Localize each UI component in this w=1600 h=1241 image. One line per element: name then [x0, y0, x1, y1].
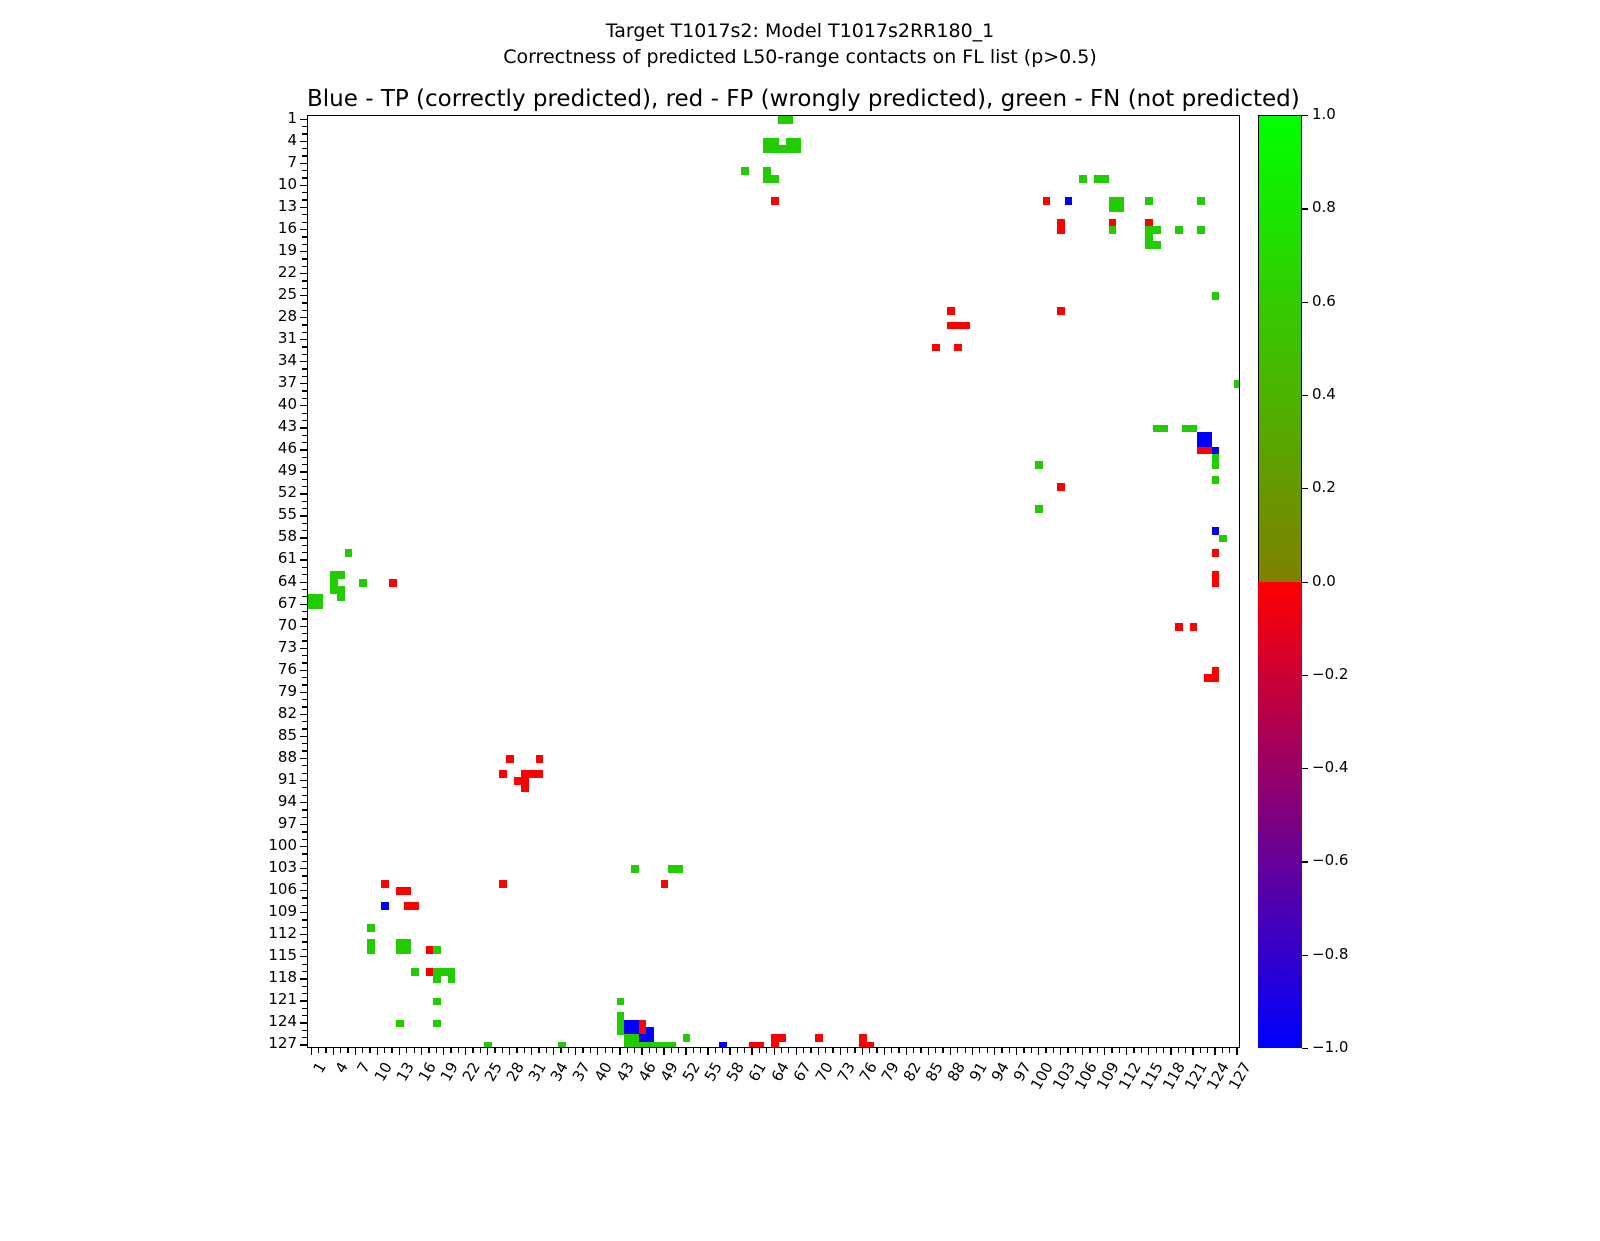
- y-axis-tick-minor: [302, 750, 307, 751]
- x-axis-tick-major: [906, 1048, 907, 1055]
- x-axis-tick-minor: [693, 1048, 694, 1053]
- y-axis-tick-minor: [302, 743, 307, 744]
- contact-cell: [1212, 579, 1220, 587]
- contact-cell: [345, 549, 353, 557]
- y-axis-tick-label: 28: [278, 309, 297, 324]
- y-axis-tick-label: 4: [287, 133, 297, 148]
- y-axis-tick-minor: [302, 413, 307, 414]
- y-axis-tick-minor: [302, 795, 307, 796]
- contact-cell: [771, 175, 779, 183]
- y-axis-tick-major: [300, 626, 307, 627]
- x-axis-tick-minor: [766, 1048, 767, 1053]
- x-axis-tick-major: [1082, 1048, 1083, 1055]
- contact-cell: [1145, 197, 1153, 205]
- y-axis-tick-minor: [302, 244, 307, 245]
- y-axis-tick-label: 70: [278, 618, 297, 633]
- y-axis-tick-major: [300, 648, 307, 649]
- y-axis-tick-minor: [302, 640, 307, 641]
- x-axis-tick-minor: [472, 1048, 473, 1053]
- contact-cell: [1116, 204, 1124, 212]
- x-axis-tick-major: [1038, 1048, 1039, 1055]
- contact-cell: [433, 946, 441, 954]
- contact-cell: [381, 880, 389, 888]
- x-axis-tick-major: [774, 1048, 775, 1055]
- x-axis-tick-minor: [1053, 1048, 1054, 1053]
- contact-cell: [1109, 226, 1117, 234]
- y-axis-tick-label: 61: [278, 551, 297, 566]
- x-axis-tick-minor: [722, 1048, 723, 1053]
- y-axis-tick-major: [300, 361, 307, 362]
- y-axis-tick-label: 46: [278, 441, 297, 456]
- colorbar-tick: [1302, 955, 1308, 956]
- x-axis-tick-minor: [1067, 1048, 1068, 1053]
- y-axis-tick-label: 112: [268, 926, 297, 941]
- x-axis-tick-minor: [913, 1048, 914, 1053]
- x-axis-tick-minor: [715, 1048, 716, 1053]
- y-axis-tick-minor: [302, 258, 307, 259]
- contact-cell: [411, 902, 419, 910]
- contact-cell: [1175, 623, 1183, 631]
- x-axis-tick-minor: [1023, 1048, 1024, 1053]
- colorbar-tick: [1302, 395, 1308, 396]
- colorbar-tick-label: 0.2: [1312, 480, 1336, 495]
- y-axis-tick-minor: [302, 949, 307, 950]
- x-axis-tick-minor: [920, 1048, 921, 1053]
- contact-cell: [359, 579, 367, 587]
- x-axis-tick-minor: [656, 1048, 657, 1053]
- y-axis-tick-minor: [302, 479, 307, 480]
- colorbar-tick-label: 0.4: [1312, 387, 1336, 402]
- x-axis-tick-major: [399, 1048, 400, 1055]
- y-axis-tick-major: [300, 1022, 307, 1023]
- x-axis-tick-major: [1236, 1048, 1237, 1055]
- contact-cell: [661, 880, 669, 888]
- x-axis-tick-major: [1104, 1048, 1105, 1055]
- x-axis-tick-minor: [1089, 1048, 1090, 1053]
- y-axis-tick-minor: [302, 618, 307, 619]
- contact-cell: [962, 322, 970, 330]
- contact-cell: [404, 887, 412, 895]
- x-axis-tick-minor: [538, 1048, 539, 1053]
- x-axis-tick-minor: [942, 1048, 943, 1053]
- contact-cell: [1212, 674, 1220, 682]
- x-axis-tick-major: [707, 1048, 708, 1055]
- x-axis-tick-minor: [605, 1048, 606, 1053]
- contact-cell: [315, 601, 323, 609]
- contact-cell: [675, 865, 683, 873]
- y-axis-tick-label: 16: [278, 221, 297, 236]
- contact-cell: [521, 785, 529, 793]
- x-axis-tick-major: [619, 1048, 620, 1055]
- y-axis-tick-minor: [302, 861, 307, 862]
- y-axis-tick-major: [300, 295, 307, 296]
- contact-cell: [367, 946, 375, 954]
- y-axis-tick-label: 124: [268, 1014, 297, 1029]
- x-axis-tick-major: [729, 1048, 730, 1055]
- contact-cell: [932, 344, 940, 352]
- contact-cell: [337, 571, 345, 579]
- x-axis-tick-minor: [891, 1048, 892, 1053]
- x-axis-tick-major: [1126, 1048, 1127, 1055]
- colorbar-tick: [1302, 675, 1308, 676]
- y-axis-tick-minor: [302, 552, 307, 553]
- y-axis-tick-minor: [302, 435, 307, 436]
- y-axis-tick-label: 10: [278, 177, 297, 192]
- x-axis-tick-minor: [436, 1048, 437, 1053]
- y-axis-tick-minor: [302, 523, 307, 524]
- y-axis-tick-major: [300, 956, 307, 957]
- y-axis-tick-minor: [302, 324, 307, 325]
- y-axis-tick-minor: [302, 787, 307, 788]
- y-axis-tick-label: 121: [268, 992, 297, 1007]
- x-axis-tick-minor: [744, 1048, 745, 1053]
- y-axis-tick-minor: [302, 155, 307, 156]
- x-axis-tick-minor: [1141, 1048, 1142, 1053]
- y-axis-tick-label: 13: [278, 199, 297, 214]
- y-axis-tick-major: [300, 163, 307, 164]
- contact-cell: [1212, 549, 1220, 557]
- y-axis-tick-minor: [302, 831, 307, 832]
- y-axis-tick-major: [300, 229, 307, 230]
- y-axis-tick-minor: [302, 192, 307, 193]
- y-axis-tick-minor: [302, 677, 307, 678]
- y-axis-tick-minor: [302, 971, 307, 972]
- y-axis-tick-major: [300, 317, 307, 318]
- y-axis-tick-label: 91: [278, 772, 297, 787]
- x-axis-tick-major: [862, 1048, 863, 1055]
- x-axis-tick-minor: [340, 1048, 341, 1053]
- y-axis-tick-major: [300, 582, 307, 583]
- x-axis-tick-major: [818, 1048, 819, 1055]
- x-axis-tick-major: [1016, 1048, 1017, 1055]
- contact-cell: [771, 197, 779, 205]
- x-axis-tick-major: [509, 1048, 510, 1055]
- contact-cell: [433, 998, 441, 1006]
- contact-cell: [499, 880, 507, 888]
- y-axis-tick-minor: [302, 611, 307, 612]
- y-axis-tick-major: [300, 780, 307, 781]
- figure-canvas: Target T1017s2: Model T1017s2RR180_1 Cor…: [0, 0, 1600, 1200]
- y-axis-tick-minor: [302, 596, 307, 597]
- x-axis-tick-minor: [450, 1048, 451, 1053]
- contact-cell: [411, 968, 419, 976]
- colorbar-tick-label: −0.4: [1312, 760, 1348, 775]
- y-axis-tick-label: 64: [278, 574, 297, 589]
- y-axis-tick-minor: [302, 222, 307, 223]
- x-axis-tick-minor: [494, 1048, 495, 1053]
- contact-cell: [1212, 476, 1220, 484]
- y-axis-tick-minor: [302, 765, 307, 766]
- x-axis-tick-minor: [560, 1048, 561, 1053]
- y-axis-tick-minor: [302, 1015, 307, 1016]
- y-axis-tick-minor: [302, 1037, 307, 1038]
- contact-cell: [1212, 461, 1220, 469]
- x-axis-tick-minor: [803, 1048, 804, 1053]
- y-axis-tick-label: 31: [278, 331, 297, 346]
- y-axis-tick-major: [300, 119, 307, 120]
- x-axis-tick-minor: [898, 1048, 899, 1053]
- x-axis-tick-minor: [524, 1048, 525, 1053]
- y-axis-tick-minor: [302, 567, 307, 568]
- contact-map-plot-area[interactable]: [307, 115, 1240, 1048]
- y-axis-tick-minor: [302, 875, 307, 876]
- y-axis-tick-minor: [302, 346, 307, 347]
- x-axis-tick-major: [641, 1048, 642, 1055]
- y-axis-tick-minor: [302, 442, 307, 443]
- y-axis-tick-major: [300, 515, 307, 516]
- colorbar-gradient-lower: [1258, 582, 1302, 1049]
- y-axis-tick-minor: [302, 501, 307, 502]
- x-axis-tick-minor: [1178, 1048, 1179, 1053]
- x-axis-tick-minor: [369, 1048, 370, 1053]
- contact-cell: [793, 145, 801, 153]
- axes-legend-caption: Blue - TP (correctly predicted), red - F…: [307, 86, 1240, 112]
- x-axis-tick-minor: [700, 1048, 701, 1053]
- contact-cell: [1212, 292, 1220, 300]
- y-axis-tick-minor: [302, 589, 307, 590]
- y-axis-tick-label: 34: [278, 353, 297, 368]
- x-axis-tick-major: [685, 1048, 686, 1055]
- x-axis-tick-minor: [1075, 1048, 1076, 1053]
- y-axis-tick-minor: [302, 839, 307, 840]
- y-axis-tick-major: [300, 141, 307, 142]
- contact-cell: [954, 344, 962, 352]
- contact-cell: [1035, 505, 1043, 513]
- x-axis-tick-minor: [737, 1048, 738, 1053]
- contact-cell-layer: [308, 116, 1239, 1047]
- x-axis-tick-minor: [965, 1048, 966, 1053]
- y-axis-tick-minor: [302, 883, 307, 884]
- x-axis-tick-minor: [362, 1048, 363, 1053]
- colorbar-tick-label: −0.6: [1312, 853, 1348, 868]
- colorbar-tick: [1302, 302, 1308, 303]
- x-axis-tick-minor: [1133, 1048, 1134, 1053]
- y-axis-tick-minor: [302, 508, 307, 509]
- contact-cell: [433, 1020, 441, 1028]
- contact-cell: [631, 865, 639, 873]
- y-axis-tick-minor: [302, 457, 307, 458]
- colorbar-tick: [1302, 488, 1308, 489]
- x-axis-tick-major: [333, 1048, 334, 1055]
- x-axis-tick-minor: [458, 1048, 459, 1053]
- x-axis-tick-minor: [612, 1048, 613, 1053]
- x-axis-tick-minor: [634, 1048, 635, 1053]
- x-axis-tick-minor: [671, 1048, 672, 1053]
- contact-cell: [1190, 623, 1198, 631]
- y-axis-tick-minor: [302, 897, 307, 898]
- x-axis-tick-minor: [810, 1048, 811, 1053]
- x-axis-tick-minor: [406, 1048, 407, 1053]
- x-axis-tick-minor: [649, 1048, 650, 1053]
- y-axis-tick-minor: [302, 464, 307, 465]
- y-axis-tick-label: 22: [278, 265, 297, 280]
- contact-cell: [1079, 175, 1087, 183]
- contact-cell: [404, 946, 412, 954]
- x-axis-tick-major: [575, 1048, 576, 1055]
- y-axis-tick-major: [300, 692, 307, 693]
- y-axis-tick-major: [300, 758, 307, 759]
- contact-cell: [1153, 226, 1161, 234]
- figure-title-line-2: Correctness of predicted L50-range conta…: [0, 44, 1600, 70]
- contact-cell: [1160, 425, 1168, 433]
- x-axis-tick-minor: [935, 1048, 936, 1053]
- y-axis-tick-minor: [302, 280, 307, 281]
- y-axis-tick-major: [300, 824, 307, 825]
- y-axis-tick-minor: [302, 310, 307, 311]
- x-axis-tick-major: [553, 1048, 554, 1055]
- y-axis-tick-minor: [302, 773, 307, 774]
- y-axis-tick-label: 25: [278, 287, 297, 302]
- x-axis-tick-minor: [1001, 1048, 1002, 1053]
- x-axis-tick-minor: [1009, 1048, 1010, 1053]
- x-axis-tick-minor: [987, 1048, 988, 1053]
- y-axis-tick-label: 115: [268, 948, 297, 963]
- y-axis-tick-label: 88: [278, 750, 297, 765]
- contact-cell: [536, 755, 544, 763]
- y-axis-tick-label: 76: [278, 662, 297, 677]
- contact-cell: [1043, 197, 1051, 205]
- x-axis-tick-minor: [516, 1048, 517, 1053]
- x-axis-tick-major: [884, 1048, 885, 1055]
- x-axis-tick-major: [421, 1048, 422, 1055]
- y-axis-tick-minor: [302, 530, 307, 531]
- x-axis-tick-minor: [582, 1048, 583, 1053]
- x-axis-tick-minor: [825, 1048, 826, 1053]
- x-axis-tick-minor: [781, 1048, 782, 1053]
- x-axis-tick-major: [1060, 1048, 1061, 1055]
- figure-title-block: Target T1017s2: Model T1017s2RR180_1 Cor…: [0, 18, 1600, 70]
- contact-cell: [448, 976, 456, 984]
- contact-cell: [1175, 226, 1183, 234]
- y-axis-tick-major: [300, 207, 307, 208]
- contact-cell: [947, 307, 955, 315]
- x-axis-tick-minor: [627, 1048, 628, 1053]
- contact-cell: [367, 924, 375, 932]
- y-axis-tick-minor: [302, 941, 307, 942]
- contact-cell: [617, 998, 625, 1006]
- contact-cell: [1035, 461, 1043, 469]
- y-axis-tick-minor: [302, 919, 307, 920]
- x-axis-tick-minor: [869, 1048, 870, 1053]
- x-axis-tick-minor: [1163, 1048, 1164, 1053]
- y-axis-tick-minor: [302, 148, 307, 149]
- x-axis-tick-minor: [546, 1048, 547, 1053]
- y-axis-tick-minor: [302, 993, 307, 994]
- colorbar-tick-label: −0.2: [1312, 667, 1348, 682]
- y-axis-tick-label: 109: [268, 904, 297, 919]
- y-axis-tick-minor: [302, 288, 307, 289]
- contact-cell: [433, 976, 441, 984]
- x-axis-tick-minor: [347, 1048, 348, 1053]
- colorbar-tick: [1302, 208, 1308, 209]
- y-axis-tick-label: 118: [268, 970, 297, 985]
- x-axis-tick-minor: [318, 1048, 319, 1053]
- x-axis-tick-minor: [384, 1048, 385, 1053]
- x-axis-tick-minor: [759, 1048, 760, 1053]
- y-axis-tick-minor: [302, 266, 307, 267]
- contact-cell: [1057, 226, 1065, 234]
- y-axis-tick-major: [300, 339, 307, 340]
- colorbar-tick-label: 0.0: [1312, 574, 1336, 589]
- y-axis-tick-minor: [302, 853, 307, 854]
- contact-cell: [1234, 380, 1240, 388]
- y-axis-tick-label: 1: [287, 111, 297, 126]
- y-axis-tick-major: [300, 559, 307, 560]
- x-axis-tick-minor: [957, 1048, 958, 1053]
- contact-cell: [778, 1034, 786, 1042]
- contact-cell: [1153, 241, 1161, 249]
- x-axis-tick-major: [928, 1048, 929, 1055]
- contact-cell: [1057, 307, 1065, 315]
- contact-cell: [1065, 197, 1073, 205]
- y-axis-tick-major: [300, 537, 307, 538]
- x-axis-tick-minor: [391, 1048, 392, 1053]
- x-axis-tick-major: [1170, 1048, 1171, 1055]
- x-axis-tick-major: [751, 1048, 752, 1055]
- x-axis-tick-minor: [590, 1048, 591, 1053]
- y-axis-tick-minor: [302, 986, 307, 987]
- x-axis-tick-minor: [1222, 1048, 1223, 1053]
- x-axis-tick-major: [1214, 1048, 1215, 1055]
- x-axis-tick-minor: [502, 1048, 503, 1053]
- y-axis-tick-major: [300, 670, 307, 671]
- y-axis-tick-major: [300, 604, 307, 605]
- y-axis-tick-minor: [302, 214, 307, 215]
- y-axis-tick-minor: [302, 354, 307, 355]
- y-axis-tick-major: [300, 978, 307, 979]
- y-axis-tick-label: 43: [278, 419, 297, 434]
- y-axis-tick-minor: [302, 170, 307, 171]
- colorbar-tick: [1302, 115, 1308, 116]
- y-axis-tick-label: 103: [268, 860, 297, 875]
- y-axis-tick-major: [300, 846, 307, 847]
- x-axis-tick-major: [663, 1048, 664, 1055]
- x-axis-tick-minor: [979, 1048, 980, 1053]
- x-axis-tick-major: [531, 1048, 532, 1055]
- x-axis-tick-minor: [1229, 1048, 1230, 1053]
- y-axis-tick-minor: [302, 927, 307, 928]
- contact-cell: [389, 579, 397, 587]
- contact-cell: [815, 1034, 823, 1042]
- y-axis-tick-minor: [302, 817, 307, 818]
- y-axis-tick-minor: [302, 486, 307, 487]
- contact-cell: [741, 167, 749, 175]
- y-axis-tick-label: 100: [268, 838, 297, 853]
- y-axis-tick-minor: [302, 420, 307, 421]
- y-axis-tick-label: 40: [278, 397, 297, 412]
- x-axis-tick-minor: [854, 1048, 855, 1053]
- x-axis-tick-major: [994, 1048, 995, 1055]
- y-axis-tick-label: 82: [278, 706, 297, 721]
- y-axis-tick-minor: [302, 302, 307, 303]
- y-axis-tick-major: [300, 427, 307, 428]
- y-axis-tick-major: [300, 405, 307, 406]
- x-axis-tick-minor: [1031, 1048, 1032, 1053]
- contact-cell: [1197, 197, 1205, 205]
- y-axis-tick-label: 106: [268, 882, 297, 897]
- x-axis-tick-minor: [1156, 1048, 1157, 1053]
- y-axis-tick-minor: [302, 133, 307, 134]
- colorbar-tick: [1302, 768, 1308, 769]
- y-axis-tick-label: 37: [278, 375, 297, 390]
- y-axis-tick-minor: [302, 721, 307, 722]
- contact-cell: [396, 1020, 404, 1028]
- x-axis-tick-major: [840, 1048, 841, 1055]
- y-axis-tick-minor: [302, 398, 307, 399]
- colorbar-tick: [1302, 582, 1308, 583]
- y-axis-tick-label: 97: [278, 816, 297, 831]
- x-axis-tick-major: [796, 1048, 797, 1055]
